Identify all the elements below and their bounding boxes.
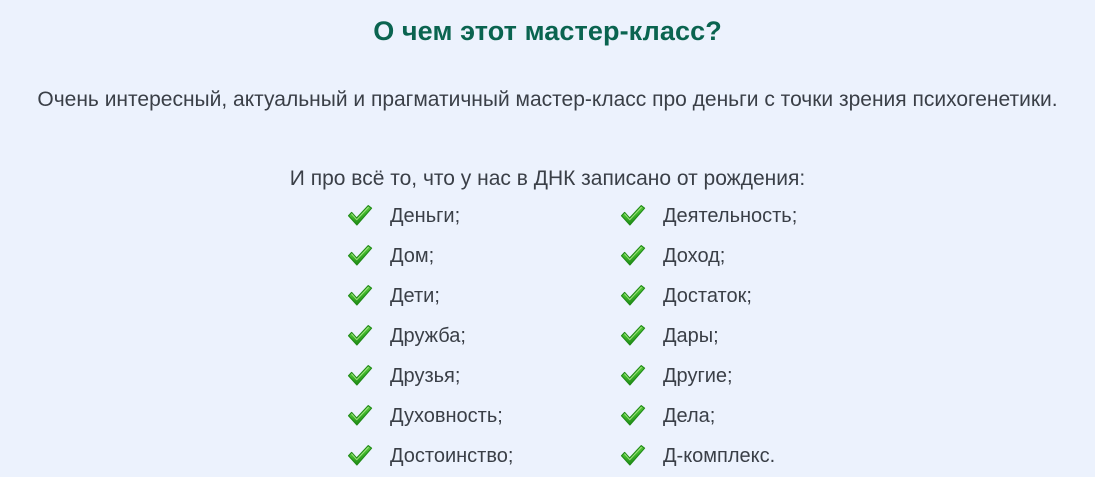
- checklist-item-label: Дети;: [390, 284, 440, 308]
- checklist-item: Доход;: [620, 236, 920, 276]
- green-check-icon: [347, 244, 373, 268]
- checklist-column-left: Деньги;Дом;Дети;Дружба;Друзья;Духовность…: [347, 196, 620, 476]
- checklist-item: Дети;: [347, 276, 620, 316]
- checklist-item-label: Дружба;: [390, 324, 466, 348]
- green-check-icon: [347, 324, 373, 348]
- checklist-item-label: Дела;: [663, 404, 715, 428]
- green-check-icon: [347, 284, 373, 308]
- green-check-icon: [620, 444, 646, 468]
- checklist-item: Друзья;: [347, 356, 620, 396]
- green-check-icon: [620, 204, 646, 228]
- checklist-item-label: Деньги;: [390, 204, 460, 228]
- green-check-icon: [347, 444, 373, 468]
- green-check-icon: [347, 204, 373, 228]
- checklist-item: Достаток;: [620, 276, 920, 316]
- green-check-icon: [347, 404, 373, 428]
- green-check-icon: [620, 324, 646, 348]
- green-check-icon: [347, 364, 373, 388]
- checklist-item-label: Достоинство;: [390, 444, 513, 468]
- page-title: О чем этот мастер-класс?: [0, 12, 1095, 50]
- checklist-item: Деятельность;: [620, 196, 920, 236]
- green-check-icon: [347, 364, 373, 388]
- green-check-icon: [347, 404, 373, 428]
- green-check-icon: [620, 404, 646, 428]
- green-check-icon: [347, 204, 373, 228]
- checklist-column-right: Деятельность;Доход;Достаток;Дары;Другие;…: [620, 196, 920, 476]
- green-check-icon: [347, 324, 373, 348]
- checklist-item-label: Дом;: [390, 244, 434, 268]
- green-check-icon: [620, 324, 646, 348]
- green-check-icon: [347, 284, 373, 308]
- checklist-item-label: Духовность;: [390, 404, 503, 428]
- green-check-icon: [347, 244, 373, 268]
- checklist-item-label: Д-комплекс.: [663, 444, 775, 468]
- checklist-item: Достоинство;: [347, 436, 620, 476]
- intro-paragraph-2: И про всё то, что у нас в ДНК записано о…: [30, 162, 1065, 195]
- green-check-icon: [620, 284, 646, 308]
- checklist-item: Дом;: [347, 236, 620, 276]
- checklist: Деньги;Дом;Дети;Дружба;Друзья;Духовность…: [0, 196, 1095, 476]
- checklist-item-label: Другие;: [663, 364, 733, 388]
- checklist-item: Дела;: [620, 396, 920, 436]
- green-check-icon: [620, 284, 646, 308]
- checklist-item-label: Дары;: [663, 324, 719, 348]
- green-check-icon: [620, 244, 646, 268]
- green-check-icon: [620, 404, 646, 428]
- checklist-item: Д-комплекс.: [620, 436, 920, 476]
- green-check-icon: [347, 444, 373, 468]
- checklist-item: Деньги;: [347, 196, 620, 236]
- green-check-icon: [620, 364, 646, 388]
- green-check-icon: [620, 444, 646, 468]
- checklist-item: Дружба;: [347, 316, 620, 356]
- checklist-item: Духовность;: [347, 396, 620, 436]
- checklist-item-label: Доход;: [663, 244, 725, 268]
- green-check-icon: [620, 204, 646, 228]
- intro-paragraph-1: Очень интересный, актуальный и прагматич…: [30, 83, 1065, 116]
- checklist-item-label: Деятельность;: [663, 204, 797, 228]
- checklist-item-label: Друзья;: [390, 364, 460, 388]
- green-check-icon: [620, 244, 646, 268]
- checklist-item: Дары;: [620, 316, 920, 356]
- checklist-item: Другие;: [620, 356, 920, 396]
- masterclass-info-page: О чем этот мастер-класс? Очень интересны…: [0, 0, 1095, 477]
- checklist-item-label: Достаток;: [663, 284, 752, 308]
- green-check-icon: [620, 364, 646, 388]
